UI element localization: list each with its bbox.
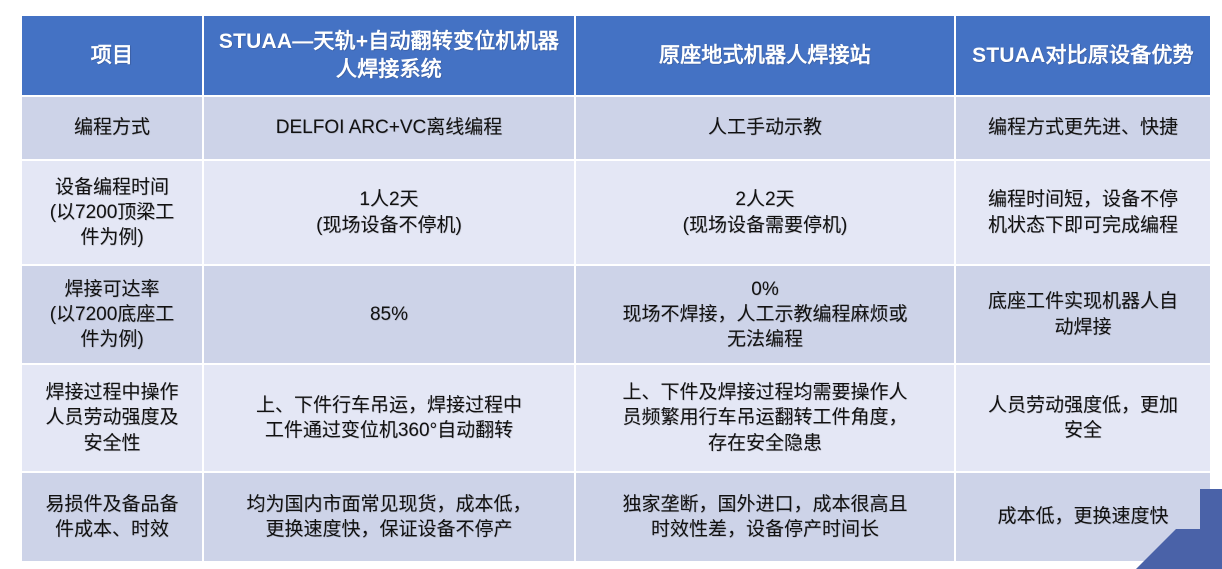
table-cell: 底座工件实现机器人自动焊接 — [956, 266, 1210, 363]
cell-text-line: (现场设备需要停机) — [585, 213, 945, 238]
equipment-comparison-table: 项目 STUAA—天轨+自动翻转变位机机器人焊接系统 原座地式机器人焊接站 ST… — [20, 14, 1212, 563]
cell-text-line: 成本低，更换速度快 — [965, 504, 1201, 529]
row-label-cell: 易损件及备品备件成本、时效 — [22, 473, 202, 561]
row-label-cell: 设备编程时间(以7200顶梁工件为例) — [22, 161, 202, 264]
cell-text-line: 件为例) — [31, 327, 193, 352]
cell-text-line: 1人2天 — [213, 187, 565, 212]
cell-text-line: 上、下件及焊接过程均需要操作人 — [585, 380, 945, 405]
header-cell-legacy-station: 原座地式机器人焊接站 — [576, 16, 954, 95]
cell-text-line: 编程方式更先进、快捷 — [965, 115, 1201, 140]
cell-text-line: 焊接可达率 — [31, 277, 193, 302]
header-text-line: STUAA对比原设备 — [972, 44, 1151, 67]
table-cell: 编程方式更先进、快捷 — [956, 97, 1210, 159]
cell-text-line: 件为例) — [31, 225, 193, 250]
cell-text-line: 时效性差，设备停产时间长 — [585, 517, 945, 542]
header-text-line: 优势 — [1151, 44, 1193, 67]
cell-text-line: 85% — [213, 302, 565, 327]
cell-text-line: (以7200顶梁工 — [31, 200, 193, 225]
row-label-cell: 焊接可达率(以7200底座工件为例) — [22, 266, 202, 363]
cell-text-line: 编程方式 — [31, 115, 193, 140]
table-row: 焊接过程中操作人员劳动强度及安全性上、下件行车吊运，焊接过程中工件通过变位机36… — [22, 365, 1210, 471]
table-row: 设备编程时间(以7200顶梁工件为例)1人2天(现场设备不停机)2人2天(现场设… — [22, 161, 1210, 264]
cell-text-line: (以7200底座工 — [31, 302, 193, 327]
cell-text-line: 工件通过变位机360°自动翻转 — [213, 418, 565, 443]
cell-text-line: 员频繁用行车吊运翻转工件角度， — [585, 405, 945, 430]
cell-text-line: 安全 — [965, 418, 1201, 443]
row-label-cell: 焊接过程中操作人员劳动强度及安全性 — [22, 365, 202, 471]
row-label-cell: 编程方式 — [22, 97, 202, 159]
table-cell: DELFOI ARC+VC离线编程 — [204, 97, 574, 159]
cell-text-line: 人员劳动强度及 — [31, 405, 193, 430]
header-cell-stuaa-system: STUAA—天轨+自动翻转变位机机器人焊接系统 — [204, 16, 574, 95]
cell-text-line: 安全性 — [31, 431, 193, 456]
table-cell: 上、下件行车吊运，焊接过程中工件通过变位机360°自动翻转 — [204, 365, 574, 471]
cell-text-line: 上、下件行车吊运，焊接过程中 — [213, 393, 565, 418]
table-cell: 均为国内市面常见现货，成本低，更换速度快，保证设备不停产 — [204, 473, 574, 561]
table-cell: 上、下件及焊接过程均需要操作人员频繁用行车吊运翻转工件角度，存在安全隐患 — [576, 365, 954, 471]
table-cell: 人员劳动强度低，更加安全 — [956, 365, 1210, 471]
cell-text-line: 现场不焊接，人工示教编程麻烦或 — [585, 302, 945, 327]
table-row: 易损件及备品备件成本、时效均为国内市面常见现货，成本低，更换速度快，保证设备不停… — [22, 473, 1210, 561]
table-cell: 编程时间短，设备不停机状态下即可完成编程 — [956, 161, 1210, 264]
table-row: 焊接可达率(以7200底座工件为例)85%0%现场不焊接，人工示教编程麻烦或无法… — [22, 266, 1210, 363]
cell-text-line: 人工手动示教 — [585, 115, 945, 140]
cell-text-line: 2人2天 — [585, 187, 945, 212]
header-text-line: 项目 — [91, 44, 133, 67]
table-cell: 1人2天(现场设备不停机) — [204, 161, 574, 264]
cell-text-line: 设备编程时间 — [31, 175, 193, 200]
cell-text-line: 更换速度快，保证设备不停产 — [213, 517, 565, 542]
cell-text-line: 独家垄断，国外进口，成本很高且 — [585, 492, 945, 517]
cell-text-line: 件成本、时效 — [31, 517, 193, 542]
table-cell: 独家垄断，国外进口，成本很高且时效性差，设备停产时间长 — [576, 473, 954, 561]
cell-text-line: 机状态下即可完成编程 — [965, 213, 1201, 238]
table-header: 项目 STUAA—天轨+自动翻转变位机机器人焊接系统 原座地式机器人焊接站 ST… — [22, 16, 1210, 95]
table-row: 编程方式DELFOI ARC+VC离线编程人工手动示教编程方式更先进、快捷 — [22, 97, 1210, 159]
table-cell: 2人2天(现场设备需要停机) — [576, 161, 954, 264]
table-body: 编程方式DELFOI ARC+VC离线编程人工手动示教编程方式更先进、快捷设备编… — [22, 97, 1210, 561]
cell-text-line: 人员劳动强度低，更加 — [965, 393, 1201, 418]
cell-text-line: 均为国内市面常见现货，成本低， — [213, 492, 565, 517]
table-cell: 0%现场不焊接，人工示教编程麻烦或无法编程 — [576, 266, 954, 363]
cell-text-line: 存在安全隐患 — [585, 431, 945, 456]
comparison-table-container: 项目 STUAA—天轨+自动翻转变位机机器人焊接系统 原座地式机器人焊接站 ST… — [20, 14, 1202, 563]
table-cell: 85% — [204, 266, 574, 363]
header-cell-item: 项目 — [22, 16, 202, 95]
cell-text-line: 编程时间短，设备不停 — [965, 187, 1201, 212]
cell-text-line: 易损件及备品备 — [31, 492, 193, 517]
cell-text-line: 0% — [585, 277, 945, 302]
cell-text-line: (现场设备不停机) — [213, 213, 565, 238]
cell-text-line: DELFOI ARC+VC离线编程 — [213, 115, 565, 140]
header-cell-advantages: STUAA对比原设备优势 — [956, 16, 1210, 95]
header-row: 项目 STUAA—天轨+自动翻转变位机机器人焊接系统 原座地式机器人焊接站 ST… — [22, 16, 1210, 95]
cell-text-line: 无法编程 — [585, 327, 945, 352]
cell-text-line: 动焊接 — [965, 315, 1201, 340]
table-cell: 成本低，更换速度快 — [956, 473, 1210, 561]
table-cell: 人工手动示教 — [576, 97, 954, 159]
header-text-line: 原座地式机器人焊接站 — [659, 44, 871, 67]
header-text-line: STUAA—天轨+自动翻转变位机 — [219, 30, 517, 53]
cell-text-line: 焊接过程中操作 — [31, 380, 193, 405]
cell-text-line: 底座工件实现机器人自 — [965, 289, 1201, 314]
